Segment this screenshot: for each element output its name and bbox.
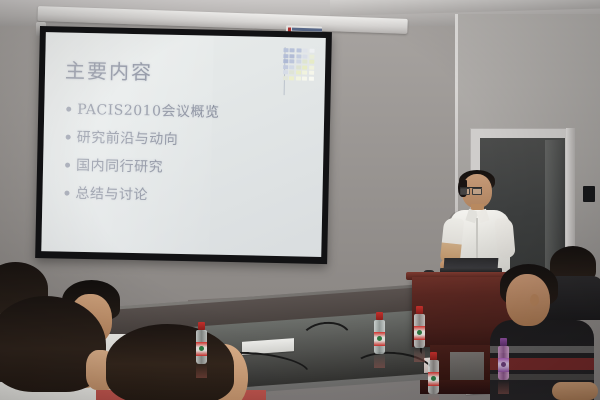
logo-square bbox=[309, 65, 314, 69]
logo-square bbox=[302, 71, 307, 75]
slide-bullet-label: PACIS2010会议概览 bbox=[77, 99, 220, 122]
bottle-logo-icon bbox=[431, 376, 436, 381]
lecture-room-photo: 主要内容 PACIS2010会议概览研究前沿与动向国内同行研究总结与讨论 bbox=[0, 0, 600, 400]
logo-square bbox=[309, 54, 314, 58]
bottle-label bbox=[498, 358, 509, 372]
bottle-logo-icon bbox=[501, 362, 506, 367]
logo-square bbox=[296, 65, 301, 69]
list-item[interactable] bbox=[96, 324, 256, 400]
bullet-dot-icon bbox=[66, 134, 71, 139]
slide-bullet-label: 研究前沿与动向 bbox=[76, 127, 178, 149]
logo-square bbox=[289, 59, 294, 63]
logo-square bbox=[289, 76, 294, 80]
person-arm bbox=[552, 382, 598, 400]
water-bottle[interactable] bbox=[196, 322, 207, 378]
projection-screen[interactable]: 主要内容 PACIS2010会议概览研究前沿与动向国内同行研究总结与讨论 bbox=[35, 26, 332, 264]
bottle-cap bbox=[198, 322, 205, 330]
bottle-reflection bbox=[196, 364, 207, 378]
logo-square bbox=[310, 49, 315, 53]
logo-square bbox=[296, 54, 301, 58]
logo-square bbox=[303, 60, 308, 64]
logo-square bbox=[296, 76, 301, 80]
bottle-cap bbox=[430, 352, 437, 360]
bottle-cap bbox=[416, 306, 423, 314]
logo-square bbox=[290, 54, 295, 58]
bottle-logo-icon bbox=[199, 346, 204, 351]
logo-square bbox=[289, 71, 294, 75]
glasses-icon bbox=[460, 187, 482, 193]
person-head bbox=[506, 274, 550, 326]
logo-square bbox=[303, 49, 308, 53]
person-ear bbox=[530, 294, 539, 306]
logo-square bbox=[296, 71, 301, 75]
slide-bullet-label: 总结与讨论 bbox=[75, 183, 148, 205]
person-hair bbox=[106, 324, 234, 400]
bottle-reflection bbox=[374, 354, 385, 368]
bottle-reflection bbox=[428, 394, 439, 400]
presentation-slide: 主要内容 PACIS2010会议概览研究前沿与动向国内同行研究总结与讨论 bbox=[41, 32, 326, 257]
bullet-dot-icon bbox=[65, 162, 70, 167]
screen-surface: 主要内容 PACIS2010会议概览研究前沿与动向国内同行研究总结与讨论 bbox=[41, 32, 326, 257]
bottle-reflection bbox=[498, 380, 509, 394]
slide-logo-grid bbox=[283, 48, 315, 81]
logo-square bbox=[283, 65, 288, 69]
water-bottle[interactable] bbox=[414, 306, 425, 362]
logo-square bbox=[283, 76, 288, 80]
logo-square bbox=[302, 76, 307, 80]
bullet-dot-icon bbox=[64, 190, 69, 195]
logo-square bbox=[283, 59, 288, 63]
logo-square bbox=[283, 70, 288, 74]
bottle-cap bbox=[376, 312, 383, 320]
bottle-logo-icon bbox=[377, 336, 382, 341]
bottle-label bbox=[196, 342, 207, 356]
logo-square bbox=[283, 48, 288, 52]
water-bottle[interactable] bbox=[428, 352, 439, 400]
slide-bullet: 总结与讨论 bbox=[64, 179, 313, 212]
wall-socket[interactable] bbox=[583, 186, 595, 202]
bottle-cap bbox=[500, 338, 507, 346]
bottle-label bbox=[374, 332, 385, 346]
logo-square bbox=[290, 48, 295, 52]
water-bottle[interactable] bbox=[374, 312, 385, 368]
logo-square bbox=[296, 48, 301, 52]
logo-square bbox=[303, 54, 308, 58]
bottle-logo-icon bbox=[417, 330, 422, 335]
presenter-arm-right bbox=[494, 217, 515, 258]
logo-square bbox=[283, 54, 288, 58]
slide-bullet-list: PACIS2010会议概览研究前沿与动向国内同行研究总结与讨论 bbox=[64, 95, 314, 212]
lectern-panel bbox=[450, 352, 484, 382]
logo-square bbox=[296, 60, 301, 64]
bullet-dot-icon bbox=[66, 106, 71, 111]
bottle-label bbox=[414, 326, 425, 340]
logo-square bbox=[309, 71, 314, 75]
logo-square bbox=[309, 77, 314, 81]
bottle-reflection bbox=[414, 348, 425, 362]
logo-square bbox=[309, 60, 314, 64]
slide-bullet-label: 国内同行研究 bbox=[76, 155, 163, 177]
list-item[interactable] bbox=[494, 262, 600, 400]
logo-square bbox=[303, 65, 308, 69]
bottle-label bbox=[428, 372, 439, 386]
logo-square bbox=[289, 65, 294, 69]
slide-title: 主要内容 bbox=[65, 55, 154, 86]
purple-bottle[interactable] bbox=[498, 338, 509, 394]
